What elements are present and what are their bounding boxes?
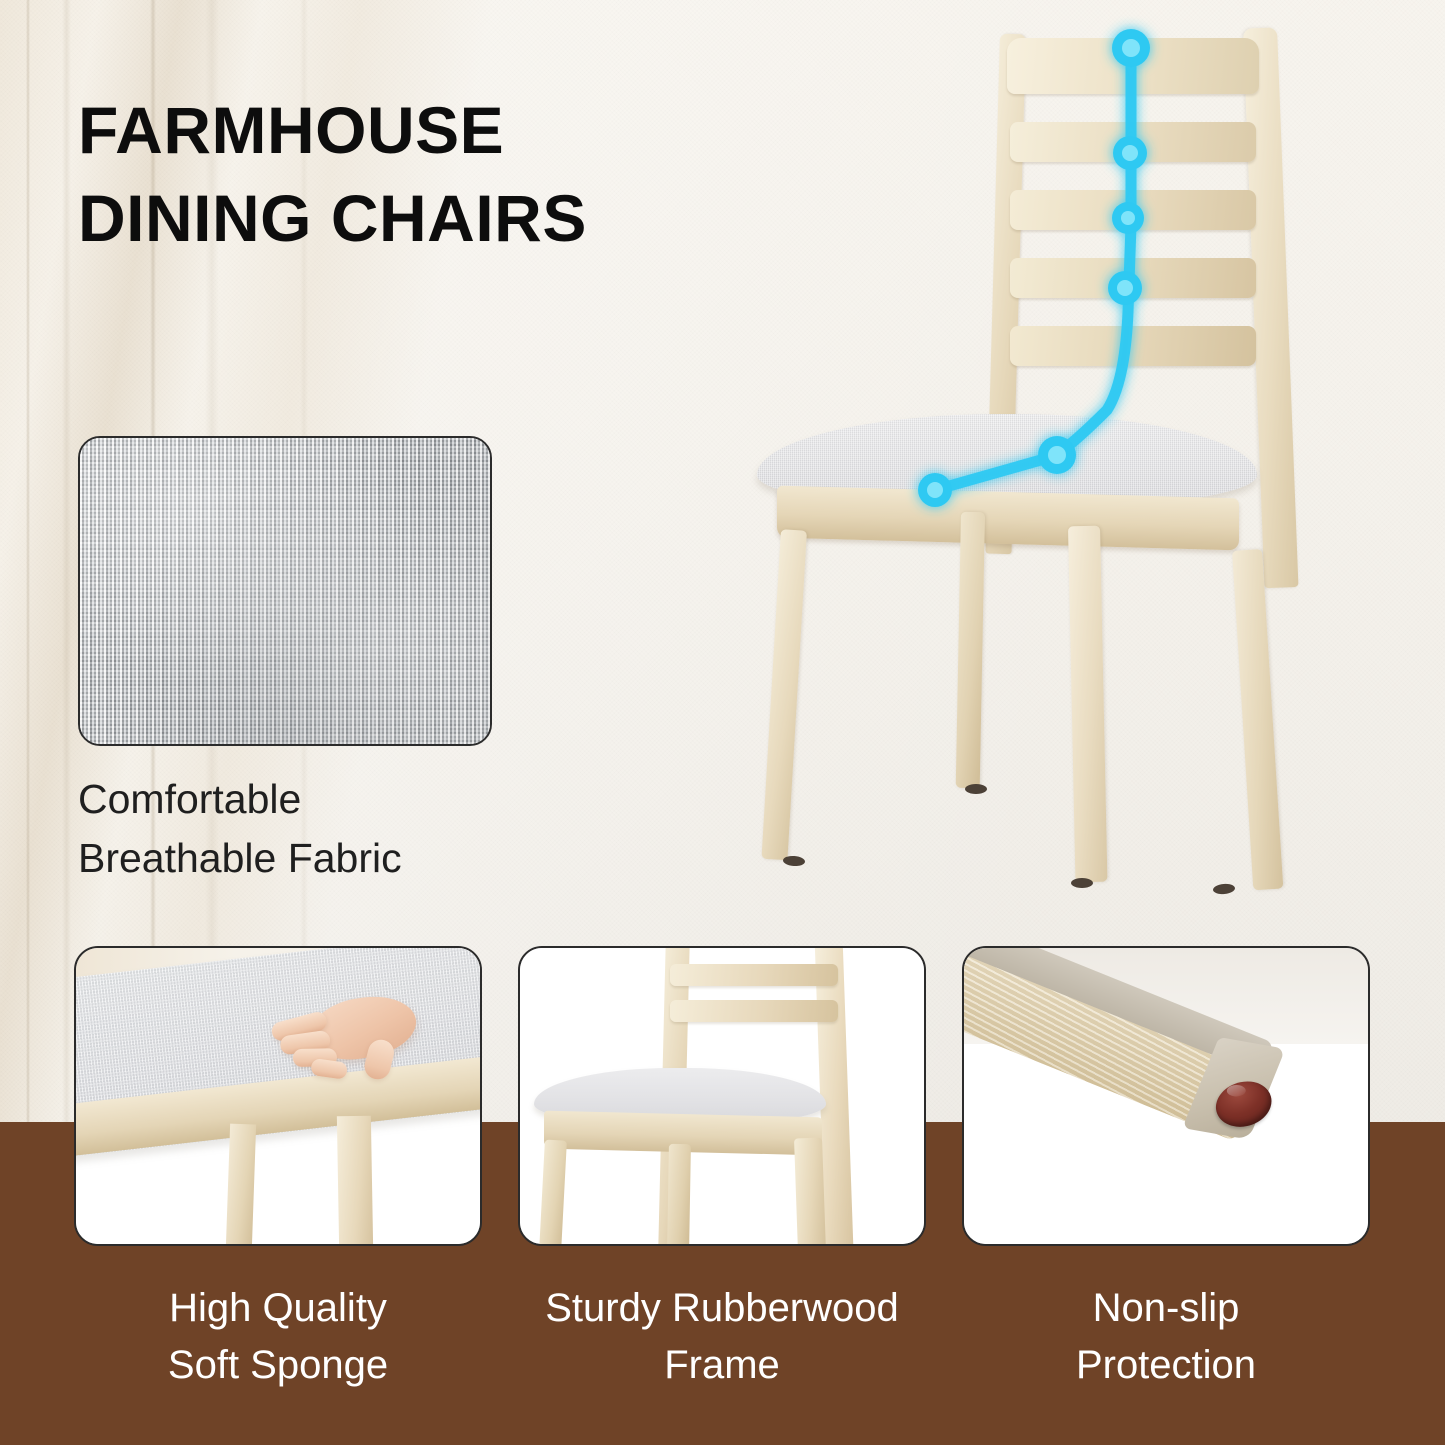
woven-fabric-texture xyxy=(80,438,490,744)
page-title: FARMHOUSE DINING CHAIRS xyxy=(78,86,838,263)
panel-background-white xyxy=(76,1134,480,1246)
chair-leg xyxy=(226,1124,256,1246)
chair-back-slat xyxy=(1010,190,1256,230)
feature-caption-rubberwood-frame: Sturdy Rubberwood Frame xyxy=(518,1280,926,1394)
chair-back-slat xyxy=(1010,258,1256,298)
fabric-swatch-card xyxy=(78,436,492,746)
curtain-fold xyxy=(62,0,71,1122)
chair-back-slat xyxy=(670,1000,838,1022)
chair-back-post-right xyxy=(1243,27,1298,588)
feature-caption-nonslip-protection: Non-slip Protection xyxy=(962,1280,1370,1394)
chair-leg-front-right xyxy=(1068,526,1107,883)
feature-caption-soft-sponge: High Quality Soft Sponge xyxy=(74,1280,482,1394)
chair-back-slat xyxy=(1010,122,1256,162)
chair-back-top-rail xyxy=(1007,38,1259,94)
chair-leg-back-middle xyxy=(956,512,985,788)
chair-back-slat xyxy=(670,964,838,986)
chair-leg-back-right xyxy=(1232,549,1283,890)
chair-foot-pad xyxy=(1071,878,1093,888)
chair-leg xyxy=(667,1144,691,1246)
chair-foot-pad xyxy=(1213,883,1236,895)
feature-panel-soft-sponge xyxy=(74,946,482,1246)
chair-foot-pad xyxy=(783,855,806,867)
fabric-feature-caption: Comfortable Breathable Fabric xyxy=(78,770,498,888)
chair-leg-front-left xyxy=(761,529,807,860)
feature-panel-nonslip-protection xyxy=(962,946,1370,1246)
hero-chair-image xyxy=(735,10,1355,920)
chair-leg xyxy=(337,1116,373,1246)
chair-foot-pad xyxy=(965,784,987,794)
chair-leg xyxy=(794,1138,826,1246)
curtain-fold xyxy=(26,0,30,1122)
feature-panel-rubberwood-frame xyxy=(518,946,926,1246)
product-infographic: FARMHOUSE DINING CHAIRS Comfortable Brea… xyxy=(0,0,1445,1445)
chair-back-slat xyxy=(1010,326,1256,366)
